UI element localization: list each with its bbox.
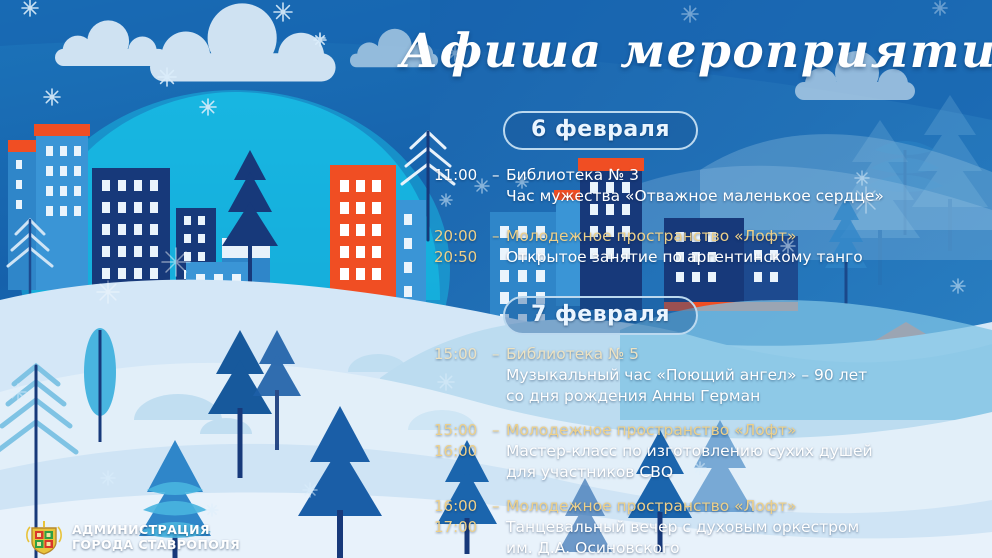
event-1-1: 15:00 16:00 – Молодежное пространство «Л… xyxy=(434,420,873,483)
event-poster: Афиша мероприятий 6 февраля 11:00 – Библ… xyxy=(0,0,992,558)
event-time: 16:00 xyxy=(434,496,492,517)
event-description-line: для участников СВО xyxy=(506,462,873,483)
event-venue: Молодежное пространство «Лофт» xyxy=(506,226,863,247)
event-description-line: Открытое занятие по аргентинскому танго xyxy=(506,247,863,268)
logo-line-1: АДМИНИСТРАЦИЯ xyxy=(72,522,240,537)
event-time: 11:00 xyxy=(434,165,492,186)
event-times: 15:00 xyxy=(434,344,492,365)
event-time: 20:50 xyxy=(434,247,492,268)
event-dash: – xyxy=(492,226,506,247)
event-dash: – xyxy=(492,165,506,186)
event-description-line: им. Д.А. Осиновского xyxy=(506,538,859,558)
page-title: Афиша мероприятий xyxy=(400,14,980,90)
event-times: 20:00 20:50 xyxy=(434,226,492,268)
event-venue: Молодежное пространство «Лофт» xyxy=(506,496,859,517)
event-time: 16:00 xyxy=(434,441,492,462)
event-times: 16:00 17:00 xyxy=(434,496,492,538)
date-badge-0[interactable]: 6 февраля xyxy=(503,111,698,150)
event-time: 17:00 xyxy=(434,517,492,538)
event-time: 20:00 xyxy=(434,226,492,247)
event-description-line: Музыкальный час «Поющий ангел» – 90 лет xyxy=(506,365,867,386)
stavropol-coat-of-arms-icon xyxy=(24,518,64,556)
date-badge-1[interactable]: 7 февраля xyxy=(503,296,698,335)
event-description-line: Час мужества «Отважное маленькое сердце» xyxy=(506,186,884,207)
event-venue: Библиотека № 3 xyxy=(506,165,884,186)
event-venue: Библиотека № 5 xyxy=(506,344,867,365)
event-dash: – xyxy=(492,344,506,365)
administration-logo: АДМИНИСТРАЦИЯ ГОРОДА СТАВРОПОЛЯ xyxy=(24,518,240,556)
event-time: 15:00 xyxy=(434,420,492,441)
event-description-line: со дня рождения Анны Герман xyxy=(506,386,867,407)
event-times: 11:00 xyxy=(434,165,492,186)
event-0-0: 11:00 – Библиотека № 3 Час мужества «Отв… xyxy=(434,165,884,207)
logo-line-2: ГОРОДА СТАВРОПОЛЯ xyxy=(72,537,240,552)
event-1-2: 16:00 17:00 – Молодежное пространство «Л… xyxy=(434,496,859,558)
event-dash: – xyxy=(492,420,506,441)
event-dash: – xyxy=(492,496,506,517)
event-description-line: Танцевальный вечер с духовым оркестром xyxy=(506,517,859,538)
event-0-1: 20:00 20:50 – Молодежное пространство «Л… xyxy=(434,226,863,268)
event-1-0: 15:00 – Библиотека № 5 Музыкальный час «… xyxy=(434,344,867,407)
event-time: 15:00 xyxy=(434,344,492,365)
event-description-line: Мастер-класс по изготовлению сухих душей xyxy=(506,441,873,462)
event-times: 15:00 16:00 xyxy=(434,420,492,462)
event-venue: Молодежное пространство «Лофт» xyxy=(506,420,873,441)
